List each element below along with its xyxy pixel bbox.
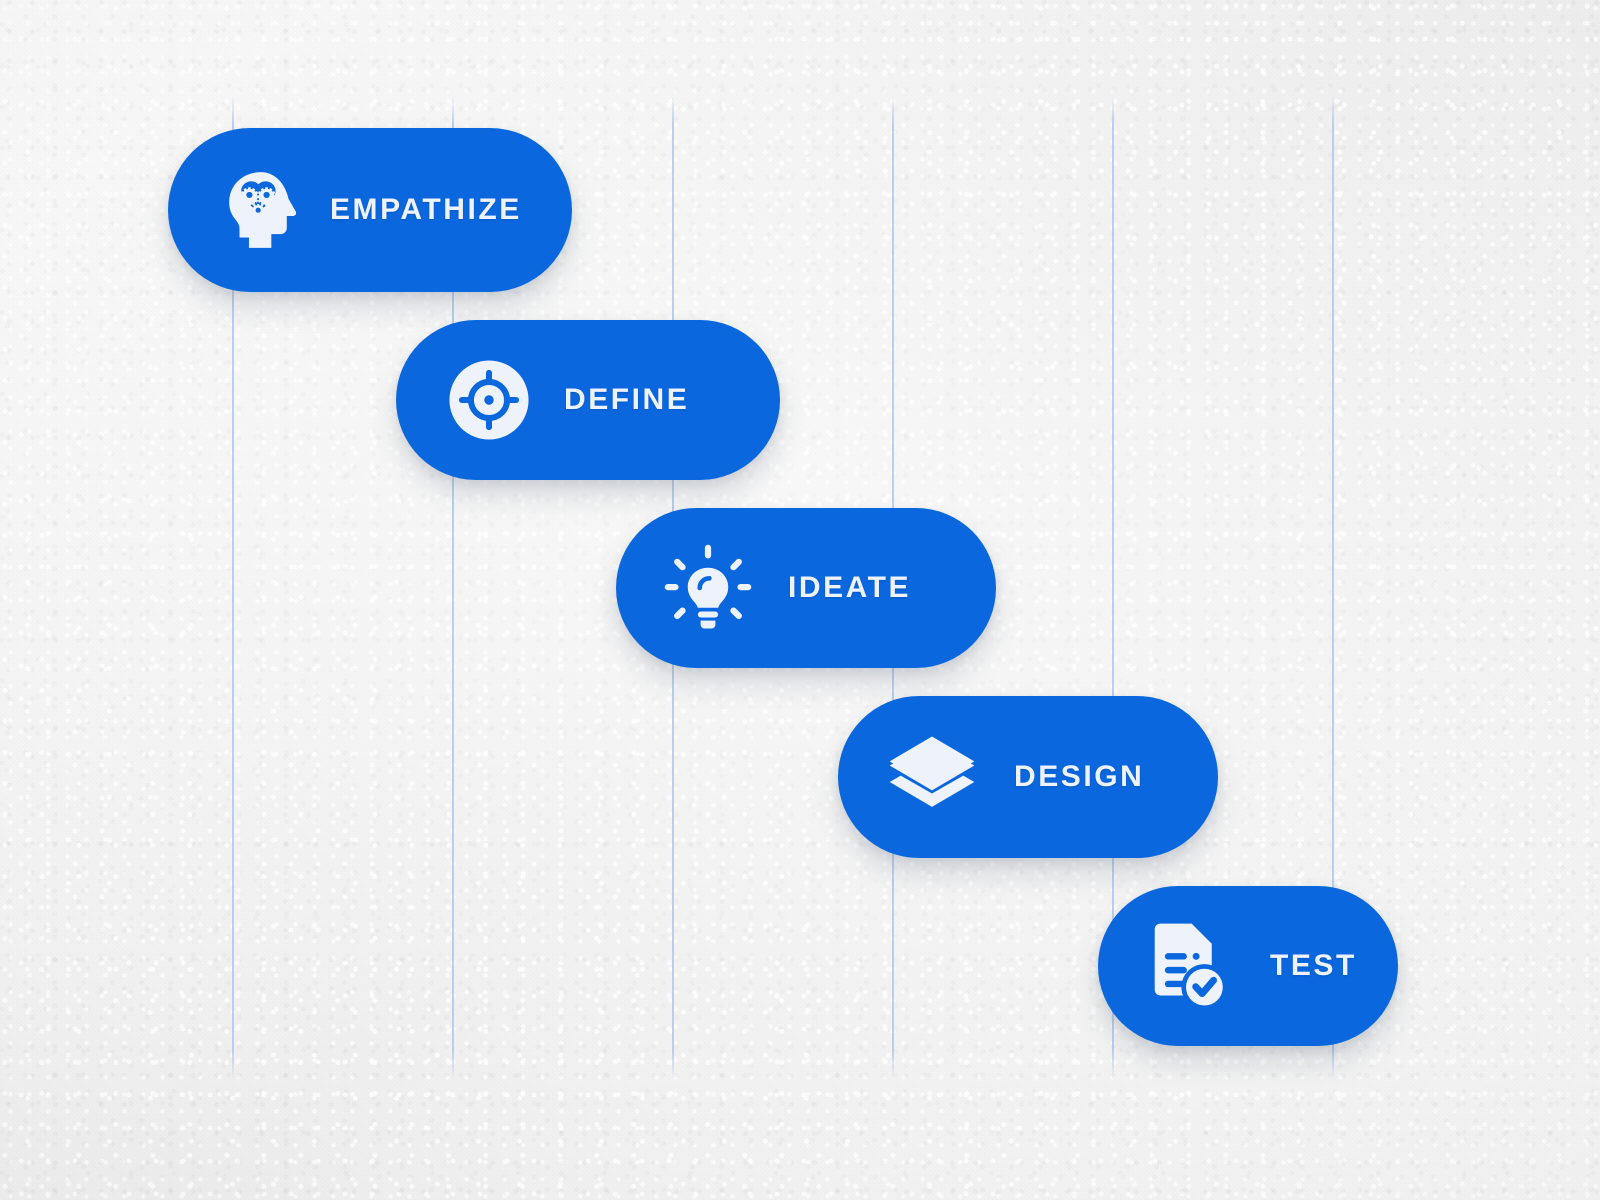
crosshair-target-icon — [446, 357, 532, 443]
stage-pill-test[interactable]: TEST — [1098, 886, 1398, 1046]
design-thinking-diagram: EMPATHIZEDEFINEIDEATEDESIGNTEST — [0, 0, 1600, 1200]
stage-pill-design[interactable]: DESIGN — [838, 696, 1218, 858]
lightbulb-rays-icon — [662, 542, 754, 634]
stage-label-design: DESIGN — [1014, 760, 1144, 794]
stage-pill-empathize[interactable]: EMPATHIZE — [168, 128, 572, 292]
head-heart-gears-icon — [218, 167, 304, 253]
stage-label-test: TEST — [1270, 949, 1357, 983]
document-check-icon — [1140, 920, 1232, 1012]
stacked-layers-icon — [886, 731, 978, 823]
stage-pill-define[interactable]: DEFINE — [396, 320, 780, 480]
stage-label-define: DEFINE — [564, 383, 689, 417]
stage-label-empathize: EMPATHIZE — [330, 193, 522, 227]
stage-pill-ideate[interactable]: IDEATE — [616, 508, 996, 668]
stage-label-ideate: IDEATE — [788, 571, 911, 605]
